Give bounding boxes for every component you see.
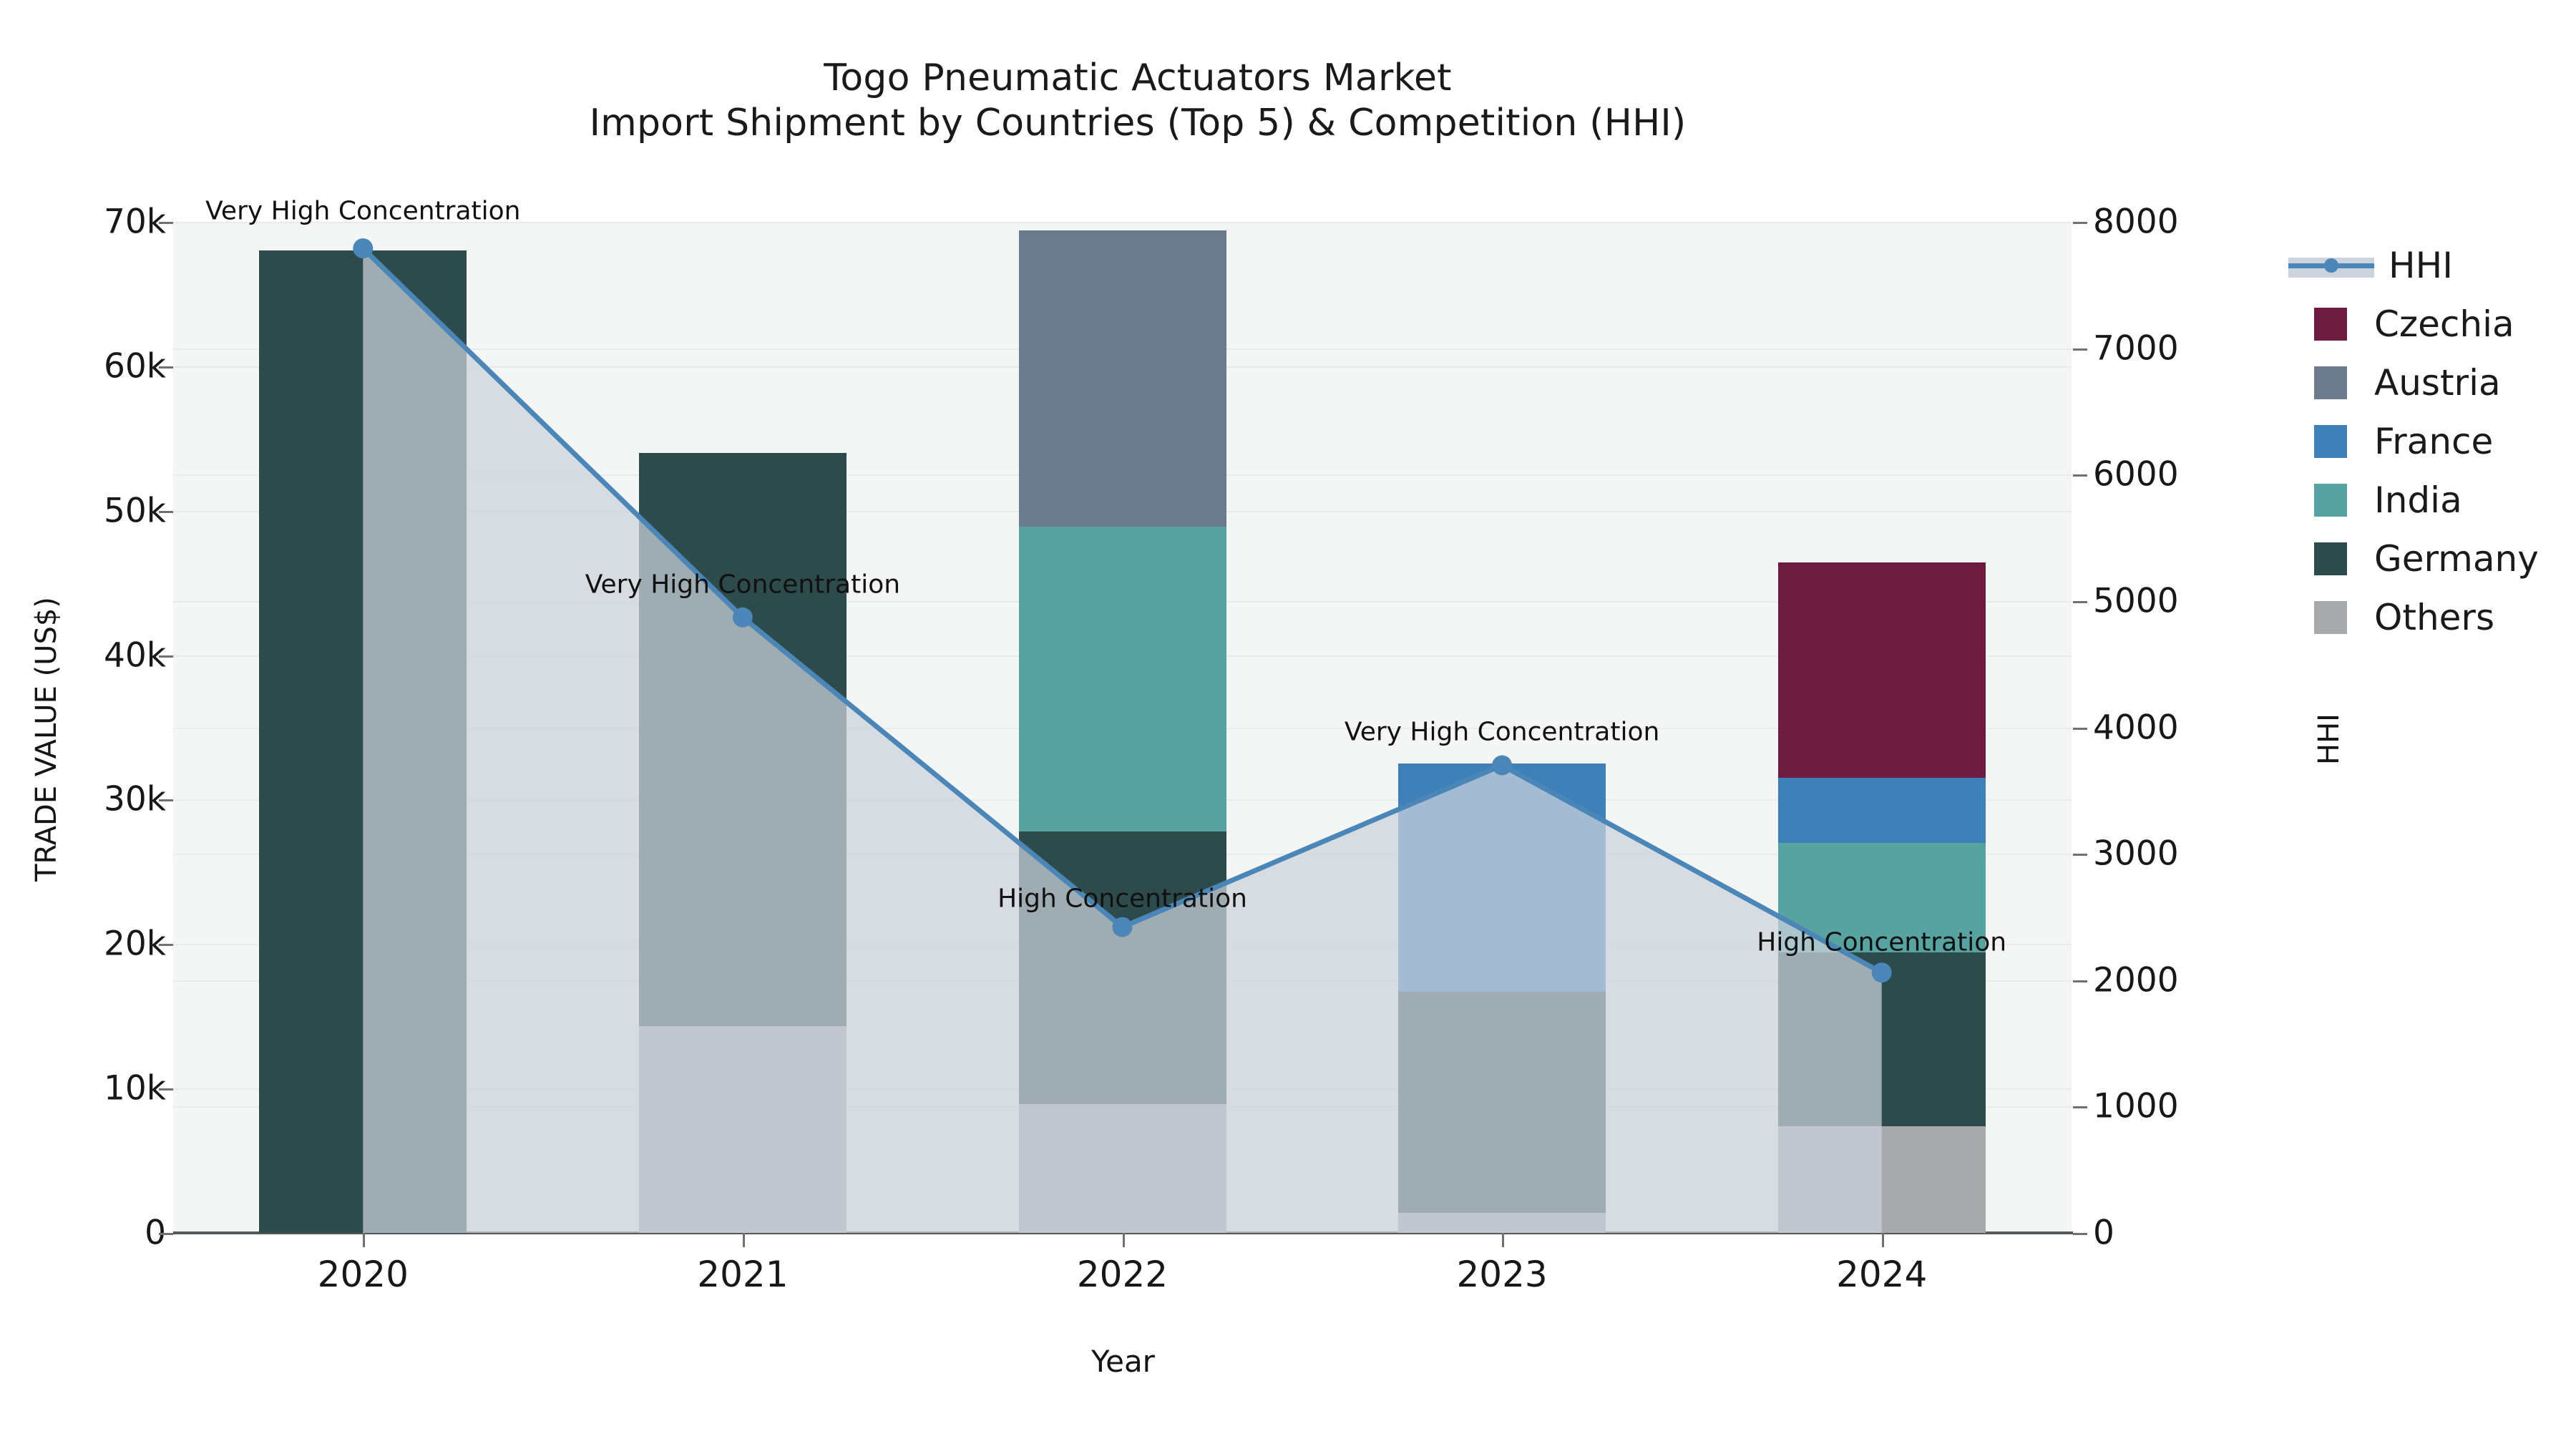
bar-segment — [1398, 763, 1606, 992]
legend-line-icon — [2288, 249, 2374, 282]
x-tick-mark — [1882, 1233, 1884, 1247]
legend-item-label: Austria — [2374, 362, 2501, 404]
bar-segment — [1019, 1104, 1226, 1233]
legend-swatch-icon — [2314, 484, 2347, 517]
legend-item[interactable]: Czechia — [2288, 295, 2575, 353]
y-tick-mark-right — [2073, 222, 2087, 224]
y-tick-label-left: 20k — [0, 924, 166, 964]
legend: HHICzechiaAustriaFranceIndiaGermanyOther… — [2288, 236, 2575, 647]
y-tick-label-left: 10k — [0, 1069, 166, 1108]
y-tick-label-right: 3000 — [2093, 834, 2179, 874]
bar-segment — [1019, 527, 1226, 831]
y-tick-label-right: 8000 — [2093, 203, 2179, 242]
y-tick-mark-right — [2073, 728, 2087, 730]
legend-swatch-icon — [2314, 601, 2347, 634]
chart-title-line1: Togo Pneumatic Actuators Market — [824, 57, 1452, 99]
y-tick-mark-left — [159, 1233, 173, 1235]
bar-segment — [1778, 562, 1986, 778]
y-axis-label-left: TRADE VALUE (US$) — [30, 489, 63, 990]
y-tick-mark-right — [2073, 348, 2087, 351]
legend-item-label: HHI — [2389, 245, 2453, 286]
x-tick-mark — [743, 1233, 745, 1247]
concentration-annotation: High Concentration — [1757, 928, 2006, 957]
y-tick-label-left: 0 — [0, 1214, 166, 1253]
y-tick-label-right: 2000 — [2093, 960, 2179, 1000]
y-tick-mark-left — [159, 799, 173, 801]
legend-swatch-icon — [2314, 366, 2347, 399]
legend-item-label: France — [2374, 421, 2493, 462]
y-tick-mark-right — [2073, 980, 2087, 982]
concentration-annotation: Very High Concentration — [205, 197, 520, 226]
y-tick-label-left: 60k — [0, 346, 166, 386]
y-tick-mark-left — [159, 366, 173, 369]
y-tick-label-right: 7000 — [2093, 328, 2179, 368]
x-tick-label: 2021 — [621, 1254, 864, 1295]
bar-segment — [1778, 778, 1986, 843]
y-tick-label-right: 5000 — [2093, 581, 2179, 620]
bar-segment — [1778, 952, 1986, 1126]
legend-item[interactable]: France — [2288, 412, 2575, 471]
y-tick-mark-right — [2073, 1106, 2087, 1108]
legend-item-label: India — [2374, 479, 2462, 521]
y-tick-label-right: 0 — [2093, 1214, 2114, 1253]
x-tick-label: 2024 — [1760, 1254, 2004, 1295]
bar-segment — [1778, 1126, 1986, 1233]
concentration-annotation: Very High Concentration — [1345, 718, 1659, 747]
bar-segment — [639, 453, 847, 1026]
x-axis-label: Year — [173, 1344, 2073, 1379]
chart-title-line2: Import Shipment by Countries (Top 5) & C… — [0, 101, 2275, 146]
legend-swatch-icon — [2314, 308, 2347, 341]
y-tick-mark-left — [159, 222, 173, 224]
bar-segment — [1398, 992, 1606, 1213]
x-tick-label: 2022 — [1001, 1254, 1244, 1295]
y-tick-mark-right — [2073, 1233, 2087, 1235]
y-tick-mark-left — [159, 655, 173, 658]
bar-segment — [639, 1026, 847, 1233]
y-tick-label-right: 4000 — [2093, 708, 2179, 747]
y-tick-mark-right — [2073, 854, 2087, 856]
legend-item[interactable]: HHI — [2288, 236, 2575, 295]
y-tick-mark-left — [159, 511, 173, 513]
legend-item[interactable]: India — [2288, 471, 2575, 530]
y-tick-label-left: 70k — [0, 203, 166, 242]
bar-segment — [1398, 1213, 1606, 1233]
y-tick-mark-right — [2073, 474, 2087, 477]
legend-item-label: Others — [2374, 597, 2494, 638]
legend-swatch-icon — [2314, 425, 2347, 458]
y-tick-label-right: 1000 — [2093, 1087, 2179, 1126]
y-tick-mark-left — [159, 1088, 173, 1091]
concentration-annotation: Very High Concentration — [585, 570, 900, 599]
chart-title: Togo Pneumatic Actuators Market Import S… — [0, 56, 2275, 147]
legend-item-label: Czechia — [2374, 303, 2514, 345]
x-tick-mark — [363, 1233, 365, 1247]
bar-segment — [1019, 831, 1226, 1105]
x-tick-mark — [1502, 1233, 1504, 1247]
x-tick-label: 2020 — [241, 1254, 484, 1295]
legend-item-label: Germany — [2374, 538, 2539, 580]
legend-item[interactable]: Germany — [2288, 530, 2575, 588]
bar-segment — [259, 250, 467, 1233]
concentration-annotation: High Concentration — [997, 884, 1247, 913]
y-tick-label-left: 40k — [0, 635, 166, 675]
x-tick-label: 2023 — [1380, 1254, 1624, 1295]
y-tick-mark-left — [159, 944, 173, 946]
y-tick-label-left: 50k — [0, 491, 166, 530]
legend-item[interactable]: Austria — [2288, 353, 2575, 412]
y-tick-mark-right — [2073, 601, 2087, 603]
y-tick-label-right: 6000 — [2093, 455, 2179, 494]
y-tick-label-left: 30k — [0, 780, 166, 819]
x-tick-mark — [1123, 1233, 1125, 1247]
legend-swatch-icon — [2314, 542, 2347, 575]
legend-item[interactable]: Others — [2288, 588, 2575, 647]
bar-segment — [1019, 230, 1226, 527]
